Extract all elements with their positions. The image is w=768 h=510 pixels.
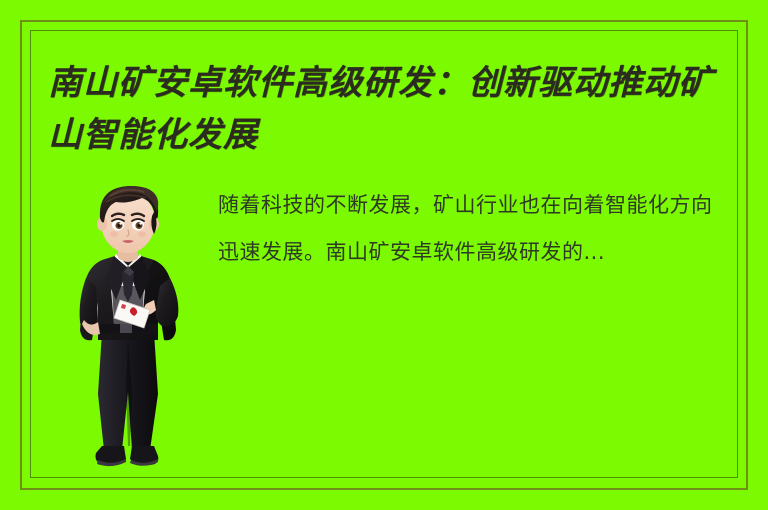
head — [97, 186, 159, 253]
character-illustration — [58, 182, 198, 474]
trousers — [98, 332, 158, 450]
article-summary: 随着科技的不断发展，矿山行业也在向着智能化方向迅速发展。南山矿安卓软件高级研发的… — [218, 182, 714, 276]
page-title: 南山矿安卓软件高级研发：创新驱动推动矿山智能化发展 — [48, 58, 740, 162]
article-card: 南山矿安卓软件高级研发：创新驱动推动矿山智能化发展 随着科技的不断发展，矿山行业… — [0, 0, 768, 510]
shoes — [96, 446, 159, 466]
